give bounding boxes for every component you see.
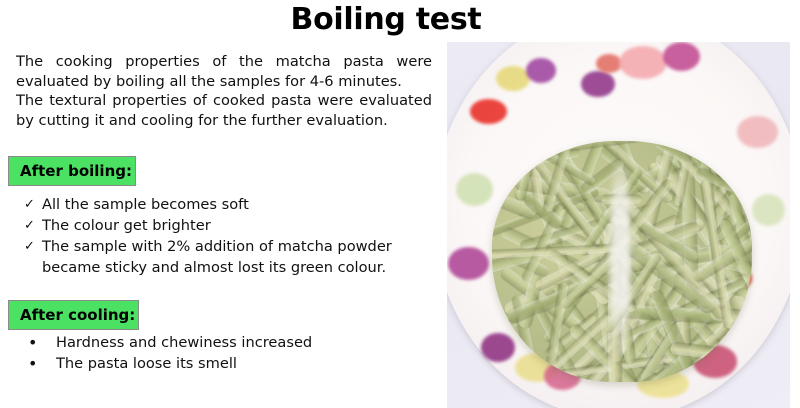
floral-accent xyxy=(619,46,667,79)
section-heading-after-cooling: After cooling: xyxy=(8,300,139,330)
bullet-list-after-cooling: • Hardness and chewiness increased • The… xyxy=(24,332,432,374)
intro-line-2: evaluated by boiling all the samples for… xyxy=(16,72,432,92)
floral-accent xyxy=(526,58,556,83)
list-item-label: The pasta loose its smell xyxy=(56,353,432,374)
floral-accent xyxy=(456,173,493,206)
page-title: Boiling test xyxy=(0,2,772,38)
section-heading-after-boiling: After boiling: xyxy=(8,156,136,186)
list-item-label: The sample with 2% addition of matcha po… xyxy=(42,236,432,278)
list-item-label: All the sample becomes soft xyxy=(42,194,432,215)
floral-accent xyxy=(496,66,529,91)
check-icon: ✓ xyxy=(24,236,42,257)
bullet-list-after-boiling: ✓ All the sample becomes soft ✓ The colo… xyxy=(24,194,432,278)
text-column: The cooking properties of the matcha pas… xyxy=(16,52,432,130)
pasta-nest-gap xyxy=(610,152,631,364)
list-item: ✓ The sample with 2% addition of matcha … xyxy=(24,236,432,278)
floral-accent xyxy=(663,42,700,71)
floral-accent xyxy=(481,333,514,362)
dot-bullet-icon: • xyxy=(24,332,56,353)
floral-accent xyxy=(448,247,489,280)
check-icon: ✓ xyxy=(24,194,42,215)
check-icon: ✓ xyxy=(24,215,42,236)
dot-bullet-icon: • xyxy=(24,353,56,374)
cooked-matcha-pasta-photo xyxy=(447,42,790,408)
floral-accent xyxy=(752,194,785,227)
list-item: ✓ The colour get brighter xyxy=(24,215,432,236)
list-item: • Hardness and chewiness increased xyxy=(24,332,432,353)
list-item: • The pasta loose its smell xyxy=(24,353,432,374)
floral-accent xyxy=(470,99,507,124)
intro-line-4: by cutting it and cooling for the furthe… xyxy=(16,111,432,131)
floral-accent xyxy=(581,71,614,98)
intro-paragraph: The cooking properties of the matcha pas… xyxy=(16,52,432,130)
list-item-label: Hardness and chewiness increased xyxy=(56,332,432,353)
noodle-strand xyxy=(703,369,743,382)
list-item: ✓ All the sample becomes soft xyxy=(24,194,432,215)
list-item-label: The colour get brighter xyxy=(42,215,432,236)
intro-line-1: The cooking properties of the matcha pas… xyxy=(16,52,432,72)
intro-line-3: The textural properties of cooked pasta … xyxy=(16,91,432,111)
